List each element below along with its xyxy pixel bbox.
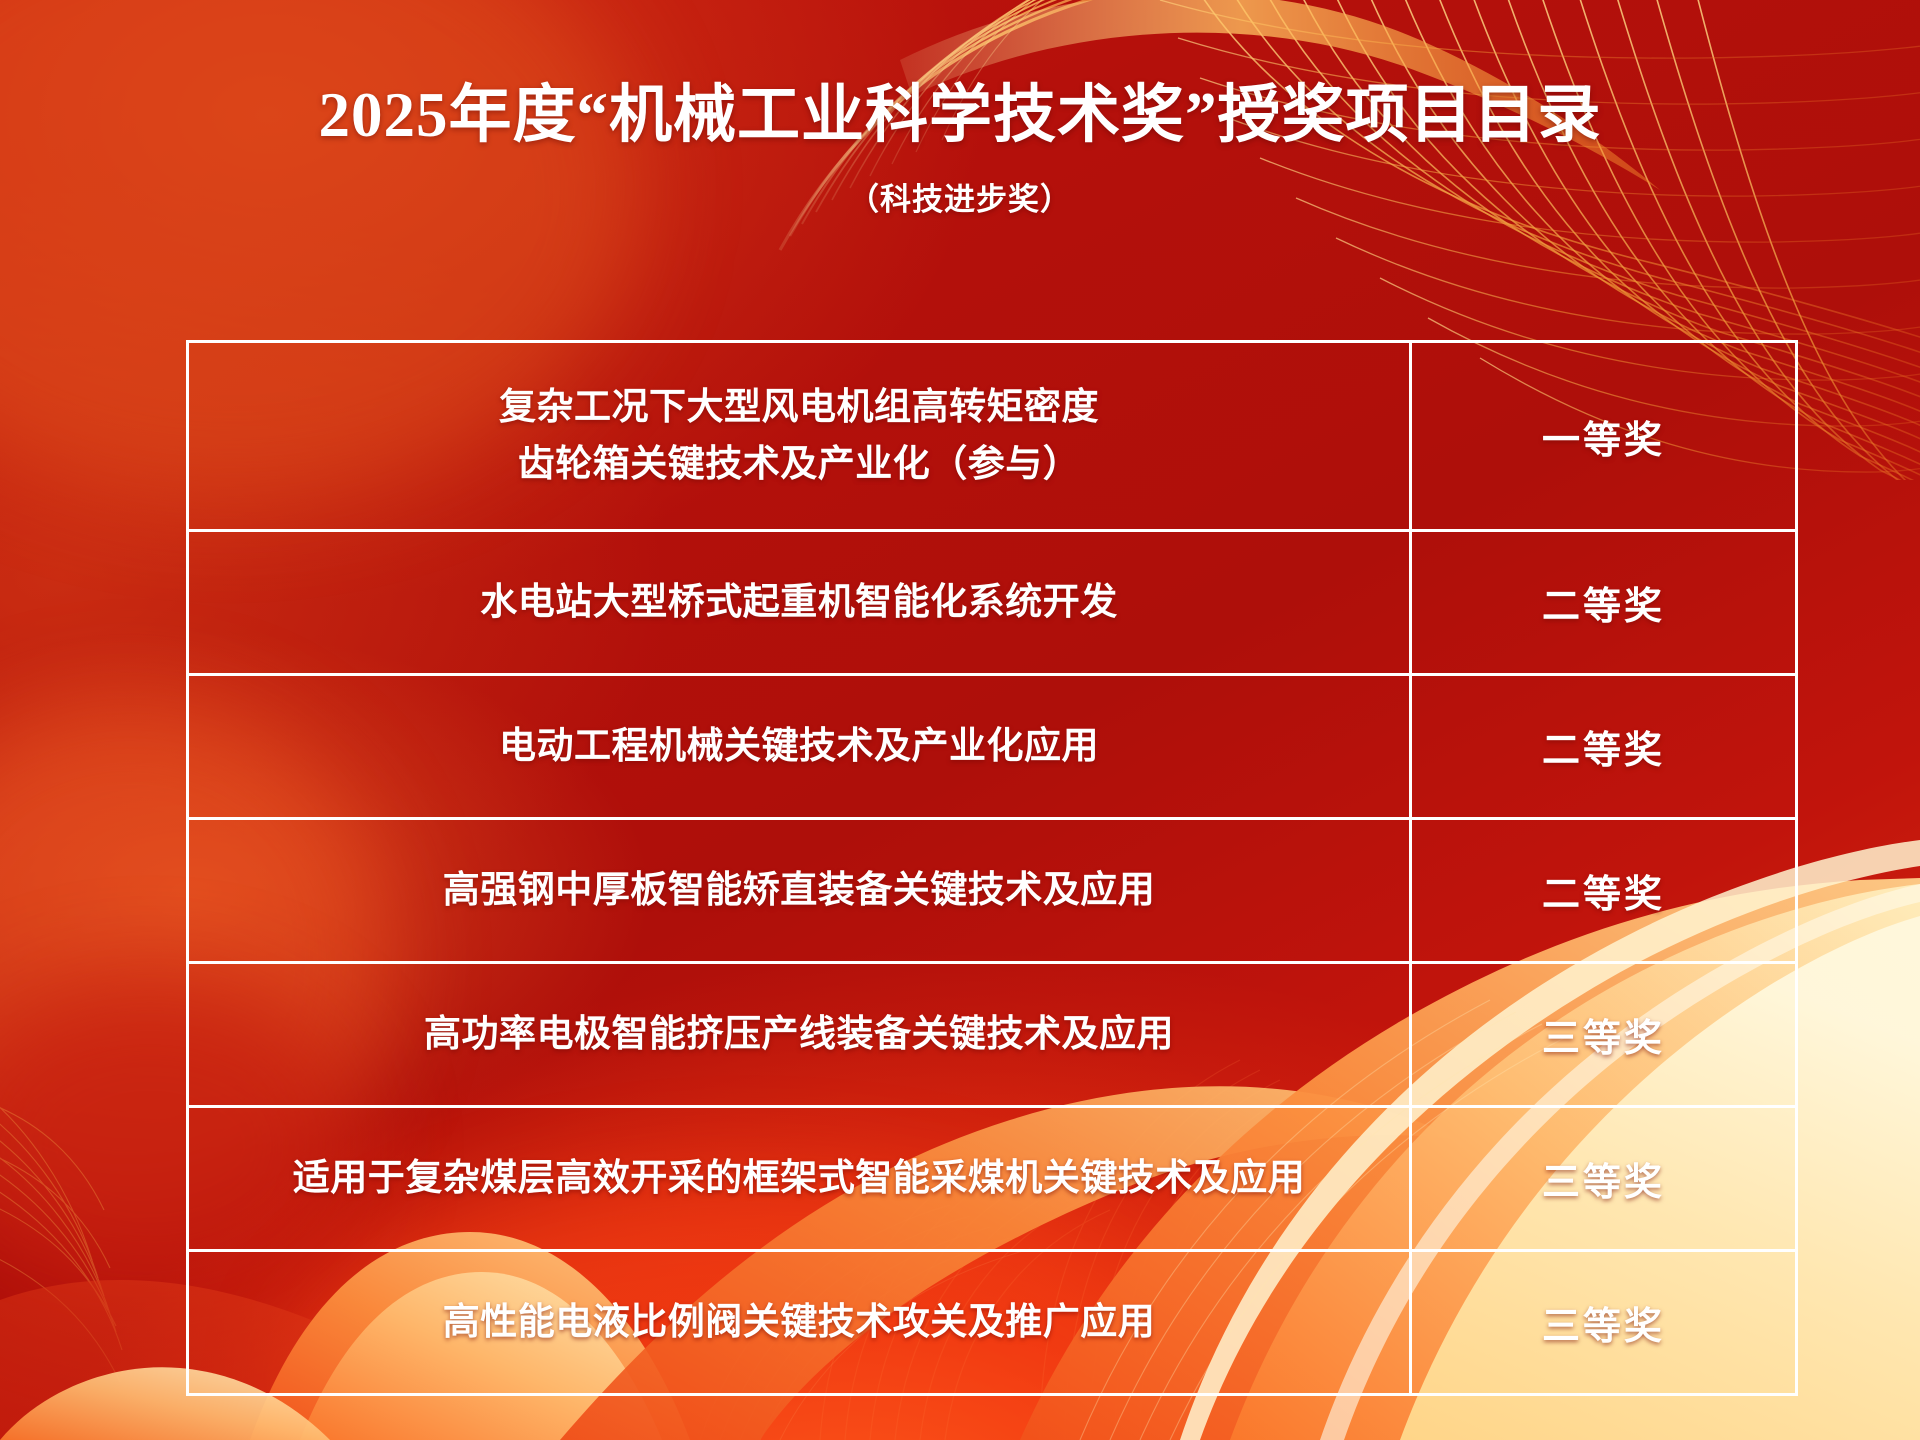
award-grade-cell: 三等奖 bbox=[1411, 1251, 1797, 1395]
project-name-cell: 适用于复杂煤层高效开采的框架式智能采煤机关键技术及应用 bbox=[188, 1107, 1411, 1251]
table-row[interactable]: 水电站大型桥式起重机智能化系统开发 二等奖 bbox=[188, 531, 1797, 675]
award-grade-cell: 三等奖 bbox=[1411, 1107, 1797, 1251]
project-name-cell: 高强钢中厚板智能矫直装备关键技术及应用 bbox=[188, 819, 1411, 963]
table-row[interactable]: 高功率电极智能挤压产线装备关键技术及应用 三等奖 bbox=[188, 963, 1797, 1107]
award-grade-cell: 二等奖 bbox=[1411, 675, 1797, 819]
project-name-cell: 复杂工况下大型风电机组高转矩密度 齿轮箱关键技术及产业化（参与） bbox=[188, 342, 1411, 531]
table-row[interactable]: 高性能电液比例阀关键技术攻关及推广应用 三等奖 bbox=[188, 1251, 1797, 1395]
project-name-line1: 复杂工况下大型风电机组高转矩密度 bbox=[205, 379, 1393, 436]
award-grade-cell: 二等奖 bbox=[1411, 819, 1797, 963]
page-title: 2025年度“机械工业科学技术奖”授奖项目目录 bbox=[0, 78, 1920, 152]
project-name-line2: 齿轮箱关键技术及产业化（参与） bbox=[205, 436, 1393, 493]
award-list-table: 复杂工况下大型风电机组高转矩密度 齿轮箱关键技术及产业化（参与） 一等奖 水电站… bbox=[186, 340, 1798, 1396]
project-name-cell: 电动工程机械关键技术及产业化应用 bbox=[188, 675, 1411, 819]
project-name-cell: 高功率电极智能挤压产线装备关键技术及应用 bbox=[188, 963, 1411, 1107]
award-grade-cell: 一等奖 bbox=[1411, 342, 1797, 531]
table-row[interactable]: 复杂工况下大型风电机组高转矩密度 齿轮箱关键技术及产业化（参与） 一等奖 bbox=[188, 342, 1797, 531]
table-row[interactable]: 适用于复杂煤层高效开采的框架式智能采煤机关键技术及应用 三等奖 bbox=[188, 1107, 1797, 1251]
project-name-cell: 水电站大型桥式起重机智能化系统开发 bbox=[188, 531, 1411, 675]
table-row[interactable]: 电动工程机械关键技术及产业化应用 二等奖 bbox=[188, 675, 1797, 819]
award-table-body: 复杂工况下大型风电机组高转矩密度 齿轮箱关键技术及产业化（参与） 一等奖 水电站… bbox=[188, 342, 1797, 1395]
poster-header: 2025年度“机械工业科学技术奖”授奖项目目录 （科技进步奖） bbox=[0, 78, 1920, 219]
poster-canvas: 2025年度“机械工业科学技术奖”授奖项目目录 （科技进步奖） 复杂工况下大型风… bbox=[0, 0, 1920, 1440]
award-grade-cell: 三等奖 bbox=[1411, 963, 1797, 1107]
project-name-cell: 高性能电液比例阀关键技术攻关及推广应用 bbox=[188, 1251, 1411, 1395]
page-subtitle: （科技进步奖） bbox=[0, 174, 1920, 219]
award-grade-cell: 二等奖 bbox=[1411, 531, 1797, 675]
table-row[interactable]: 高强钢中厚板智能矫直装备关键技术及应用 二等奖 bbox=[188, 819, 1797, 963]
